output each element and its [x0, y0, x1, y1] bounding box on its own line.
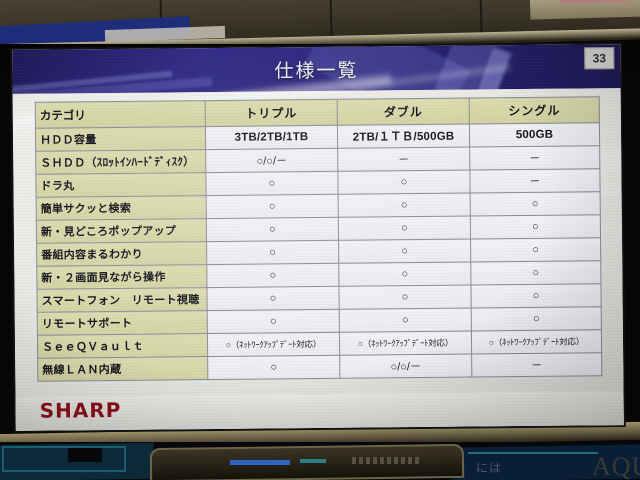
sharp-logo: SHARP	[40, 398, 122, 423]
table-cell: ○	[338, 193, 470, 217]
table-cell: ○	[339, 262, 471, 286]
table-cell: ○	[206, 194, 338, 218]
device-indicator-teal	[300, 459, 326, 463]
table-cell: ○	[338, 170, 470, 194]
left-signage-border	[2, 446, 126, 472]
column-header-category: カテゴリ	[35, 101, 205, 129]
slide-title: 仕様一覧	[12, 44, 620, 94]
table-cell: ○	[339, 239, 471, 263]
signage-text-fragment-left: には	[476, 459, 502, 476]
table-cell: 3TB/2TB/1TB	[205, 125, 337, 149]
table-cell: 500GB	[469, 123, 599, 147]
table-cell: ○/○/－	[206, 148, 338, 172]
page-number-badge: 33	[584, 47, 614, 69]
table-cell: ○	[470, 192, 600, 216]
table-row: 無線ＬＡＮ内蔵○○/○/－－	[38, 353, 602, 381]
column-header-triple: トリプル	[205, 99, 337, 126]
slide-title-banner: 仕様一覧 33	[12, 44, 620, 94]
table-cell: ○	[207, 263, 339, 287]
row-header-category: ＳＨＤＤ（ｽﾛｯﾄｲﾝﾊｰﾄﾞﾃﾞｨｽｸ）	[36, 150, 206, 175]
row-header-category: 新・２画面見ながら操作	[37, 265, 207, 290]
table-cell: ○	[471, 238, 601, 262]
table-cell: ○	[338, 216, 470, 240]
table-cell: ○	[339, 308, 471, 332]
row-header-category: ＳｅｅＱＶａｕｌｔ	[37, 334, 207, 359]
column-header-single: シングル	[469, 97, 599, 124]
table-cell: －	[472, 353, 602, 377]
table-cell: ○	[207, 240, 339, 264]
ceiling-light	[530, 0, 640, 20]
table-cell: ○	[470, 215, 600, 239]
column-header-double: ダブル	[337, 98, 469, 125]
table-cell: ○	[206, 171, 338, 195]
table-cell: －	[338, 147, 470, 171]
row-header-category: 番組内容まるわかり	[37, 242, 207, 267]
table-cell: －	[470, 146, 600, 170]
row-header-category: スマートフォン リモート視聴	[37, 288, 207, 313]
table-cell: ○	[339, 285, 471, 309]
table-cell: ○/○/－	[340, 354, 472, 378]
row-header-category: 無線ＬＡＮ内蔵	[38, 357, 208, 382]
table-cell: 2TB/１ＴＢ/500GB	[337, 124, 469, 148]
table-cell: ○（ﾈｯﾄﾜｰｸｱｯﾌﾟﾃﾞｰﾄ対応）	[471, 330, 601, 354]
presentation-screen: 仕様一覧 33 カテゴリ トリプル ダブル シングル	[12, 44, 624, 431]
right-signage-rule	[468, 452, 598, 454]
slide-footer-band: SHARP	[16, 391, 624, 431]
row-header-category: ドラ丸	[36, 173, 206, 198]
row-header-category: 新・見どころポップアップ	[36, 219, 206, 244]
specification-table: カテゴリ トリプル ダブル シングル ＨＤＤ容量3TB/2TB/1TB2TB/１…	[35, 96, 603, 381]
table-cell: ○	[471, 284, 601, 308]
row-header-category: 簡単サクッと検索	[36, 196, 206, 221]
table-cell: ○	[206, 217, 338, 241]
table-cell: ○	[208, 355, 340, 379]
row-header-category: リモートサポート	[37, 311, 207, 336]
left-signage-blackbox	[68, 448, 102, 462]
table-cell: ○（ﾈｯﾄﾜｰｸｱｯﾌﾟﾃﾞｰﾄ対応）	[207, 332, 339, 356]
table-cell: ○（ﾈｯﾄﾜｰｸｱｯﾌﾟﾃﾞｰﾄ対応）	[339, 331, 471, 355]
table-cell: ○	[207, 309, 339, 333]
device-label-blur	[352, 457, 422, 464]
slide-body: カテゴリ トリプル ダブル シングル ＨＤＤ容量3TB/2TB/1TB2TB/１…	[13, 88, 624, 431]
row-header-category: ＨＤＤ容量	[35, 127, 205, 152]
signage-text-fragment-right: AQU	[592, 452, 640, 480]
table-body: ＨＤＤ容量3TB/2TB/1TB2TB/１ＴＢ/500GB500GBＳＨＤＤ（ｽ…	[35, 123, 601, 381]
slide: 仕様一覧 33 カテゴリ トリプル ダブル シングル	[12, 44, 624, 431]
table-cell: ○	[207, 286, 339, 310]
table-cell: ○	[471, 307, 601, 331]
table-cell: －	[470, 169, 600, 193]
device-indicator-blue	[230, 460, 290, 465]
table-cell: ○	[471, 261, 601, 285]
